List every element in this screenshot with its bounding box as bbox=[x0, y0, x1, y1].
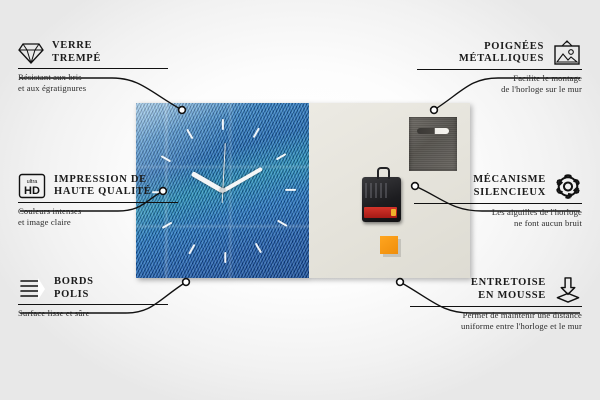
minute-hand bbox=[222, 166, 263, 192]
callout-verre-trempe: VERRE TREMPÉ Résistant aux bris et aux é… bbox=[18, 40, 168, 94]
callout-divider bbox=[417, 69, 582, 70]
polished-edges-icon bbox=[18, 277, 46, 301]
hour-marker bbox=[186, 128, 193, 139]
mechanism-hanging-loop bbox=[377, 167, 390, 179]
callout-divider bbox=[18, 68, 168, 69]
hour-marker bbox=[252, 127, 259, 138]
ultra-hd-icon: ultra HD bbox=[18, 173, 46, 199]
battery bbox=[364, 207, 396, 218]
callout-divider bbox=[410, 306, 582, 307]
metal-hanger-plate bbox=[409, 117, 457, 171]
callout-title: BORDS POLIS bbox=[54, 276, 94, 301]
callout-entretoise-en-mousse: ENTRETOISE EN MOUSSE Permet de maintenir… bbox=[410, 276, 582, 332]
connector-dot-entretoise bbox=[397, 279, 404, 286]
callout-description: Couleurs intenses et image claire bbox=[18, 206, 178, 227]
diamond-icon bbox=[18, 41, 44, 65]
callout-bords-polis: BORDS POLIS Surface lisse et sûre bbox=[18, 276, 168, 319]
callout-description: Facilite le montage de l'horloge sur le … bbox=[417, 73, 582, 94]
callout-poignees-metalliques: POIGNÉES MÉTALLIQUES Facilite le montage… bbox=[417, 40, 582, 95]
callout-title: VERRE TREMPÉ bbox=[52, 40, 101, 65]
hour-marker bbox=[285, 188, 296, 190]
clock-mechanism bbox=[362, 177, 401, 223]
hour-marker bbox=[188, 243, 195, 254]
mechanism-detail bbox=[365, 183, 388, 198]
hour-marker bbox=[224, 252, 226, 263]
connector-dot-bords-polis bbox=[183, 279, 190, 286]
callout-divider bbox=[18, 304, 168, 305]
callout-title: IMPRESSION DE HAUTE QUALITÉ bbox=[54, 174, 152, 199]
callout-description: Surface lisse et sûre bbox=[18, 308, 168, 319]
callout-divider bbox=[18, 202, 178, 203]
callout-title: MÉCANISME SILENCIEUX bbox=[473, 174, 546, 199]
hour-marker bbox=[254, 242, 261, 253]
hour-marker bbox=[160, 155, 171, 162]
callout-impression-hd: ultra HD IMPRESSION DE HAUTE QUALITÉ Cou… bbox=[18, 173, 178, 228]
hour-marker bbox=[275, 153, 286, 160]
callout-divider bbox=[414, 203, 582, 204]
picture-frame-icon bbox=[552, 40, 582, 66]
hands-center-cap bbox=[220, 188, 225, 193]
gear-icon bbox=[554, 173, 582, 200]
foam-spacer-icon bbox=[554, 276, 582, 303]
second-hand bbox=[221, 143, 225, 203]
infographic-canvas: VERRE TREMPÉ Résistant aux bris et aux é… bbox=[0, 0, 600, 400]
hour-marker bbox=[276, 219, 287, 226]
callout-mecanisme-silencieux: MÉCANISME SILENCIEUX Les aiguilles de l'… bbox=[414, 173, 582, 229]
foam-spacer bbox=[380, 236, 398, 254]
callout-title: ENTRETOISE EN MOUSSE bbox=[471, 277, 546, 302]
callout-description: Permet de maintenir une distance uniform… bbox=[410, 310, 582, 331]
svg-text:HD: HD bbox=[24, 185, 40, 197]
hanger-keyhole-slot bbox=[417, 128, 450, 134]
callout-description: Les aiguilles de l'horloge ne font aucun… bbox=[414, 207, 582, 228]
hour-marker bbox=[221, 119, 223, 130]
hour-hand bbox=[191, 171, 224, 192]
callout-description: Résistant aux bris et aux égratignures bbox=[18, 72, 168, 93]
callout-title: POIGNÉES MÉTALLIQUES bbox=[459, 41, 544, 66]
